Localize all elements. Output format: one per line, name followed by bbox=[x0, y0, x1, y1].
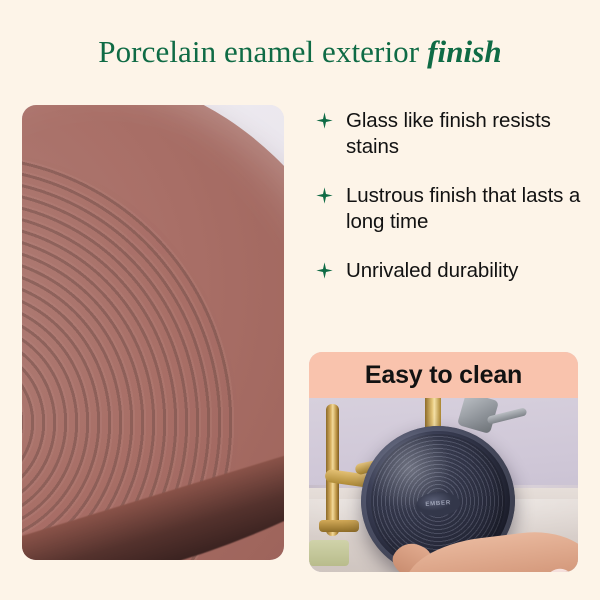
promo-graphic: Porcelain enamel exterior finish Glass l… bbox=[0, 0, 600, 600]
sparkle-icon bbox=[316, 262, 333, 284]
page-title-emphasis: finish bbox=[427, 34, 502, 69]
card-header-label: Easy to clean bbox=[365, 361, 522, 390]
sparkle-icon bbox=[316, 112, 333, 134]
fingernail bbox=[545, 567, 573, 572]
sponge bbox=[309, 540, 349, 566]
product-closeup-image bbox=[22, 105, 284, 560]
card-photo: EMBER bbox=[309, 398, 578, 572]
list-item: Glass like finish resists stains bbox=[316, 108, 588, 160]
list-item: Lustrous finish that lasts a long time bbox=[316, 183, 588, 235]
list-item-label: Glass like finish resists stains bbox=[346, 108, 588, 160]
list-item: Unrivaled durability bbox=[316, 258, 588, 284]
page-title-regular: Porcelain enamel exterior bbox=[98, 34, 419, 69]
page-title: Porcelain enamel exterior finish bbox=[0, 34, 600, 70]
sparkle-icon bbox=[316, 187, 333, 209]
faucet-base bbox=[319, 520, 359, 532]
list-item-label: Unrivaled durability bbox=[346, 258, 518, 284]
card-header: Easy to clean bbox=[309, 352, 578, 398]
list-item-label: Lustrous finish that lasts a long time bbox=[346, 183, 588, 235]
easy-to-clean-card: Easy to clean EMBER bbox=[309, 352, 578, 572]
feature-list: Glass like finish resists stains Lustrou… bbox=[316, 108, 588, 284]
